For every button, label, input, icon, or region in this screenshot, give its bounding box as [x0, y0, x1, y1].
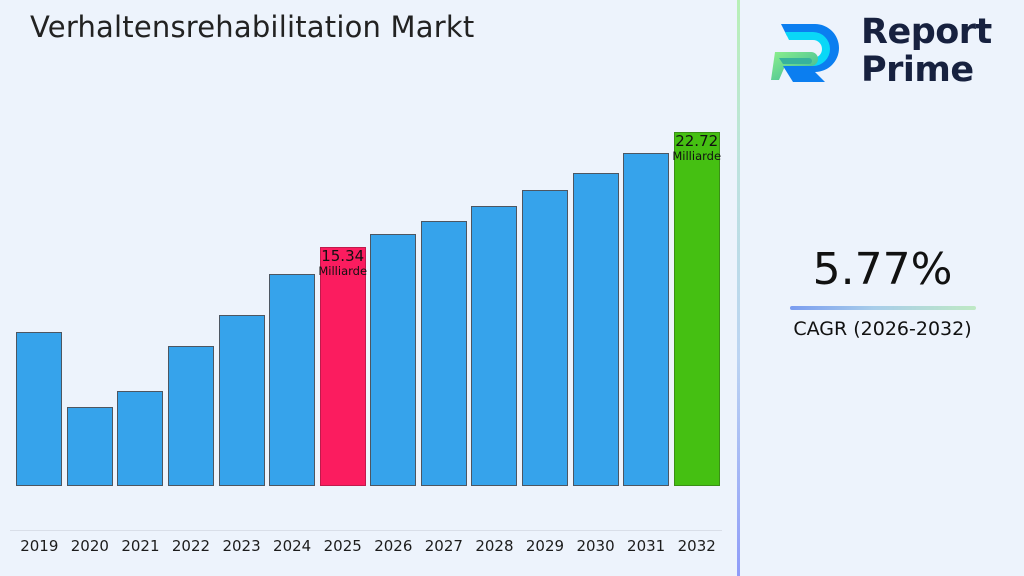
- bar-2028[interactable]: [471, 206, 517, 486]
- x-tick-2029: 2029: [520, 537, 571, 555]
- bar-2032[interactable]: [674, 132, 720, 486]
- info-panel: Report Prime 5.77% CAGR (2026-2032): [741, 0, 1024, 576]
- x-tick-2024: 2024: [267, 537, 318, 555]
- brand-name: Report Prime: [861, 14, 992, 90]
- x-tick-2020: 2020: [65, 537, 116, 555]
- brand-logo: Report Prime: [769, 14, 1007, 92]
- bar-2020[interactable]: [67, 407, 113, 486]
- axis-baseline: [10, 530, 722, 531]
- x-tick-2019: 2019: [14, 537, 65, 555]
- x-axis: 2019202020212022202320242025202620272028…: [0, 533, 738, 573]
- cagr-divider-rule: [790, 306, 976, 310]
- brand-name-line1: Report: [861, 14, 992, 52]
- x-tick-2025: 2025: [317, 537, 368, 555]
- x-tick-2031: 2031: [621, 537, 672, 555]
- chart-panel: Verhaltensrehabilitation Markt 15.34Mill…: [0, 0, 738, 576]
- cagr-value: 5.77%: [741, 248, 1024, 292]
- bar-2022[interactable]: [168, 346, 214, 486]
- x-tick-2022: 2022: [166, 537, 217, 555]
- brand-name-line2: Prime: [861, 52, 992, 90]
- cagr-caption: CAGR (2026-2032): [741, 318, 1024, 340]
- bar-2021[interactable]: [117, 391, 163, 487]
- bar-2024[interactable]: [269, 274, 315, 486]
- bar-2029[interactable]: [522, 190, 568, 487]
- bar-2027[interactable]: [421, 221, 467, 486]
- x-tick-2026: 2026: [368, 537, 419, 555]
- x-tick-2021: 2021: [115, 537, 166, 555]
- bar-chart: 15.34Milliarde22.72Milliarde 20192020202…: [0, 0, 738, 576]
- bar-2026[interactable]: [370, 234, 416, 486]
- cagr-block: 5.77% CAGR (2026-2032): [741, 248, 1024, 340]
- x-tick-2023: 2023: [216, 537, 267, 555]
- bar-2019[interactable]: [16, 332, 62, 486]
- bar-series: 15.34Milliarde22.72Milliarde: [0, 0, 738, 531]
- x-tick-2028: 2028: [469, 537, 520, 555]
- report-prime-logo-icon: [769, 18, 849, 90]
- x-tick-2027: 2027: [419, 537, 470, 555]
- x-tick-2032: 2032: [671, 537, 722, 555]
- screenshot-root: Verhaltensrehabilitation Markt 15.34Mill…: [0, 0, 1024, 576]
- x-tick-2030: 2030: [570, 537, 621, 555]
- panel-divider: [737, 0, 740, 576]
- bar-2030[interactable]: [573, 173, 619, 486]
- bar-2023[interactable]: [219, 315, 265, 486]
- bar-2025[interactable]: [320, 247, 366, 486]
- bar-2031[interactable]: [623, 153, 669, 486]
